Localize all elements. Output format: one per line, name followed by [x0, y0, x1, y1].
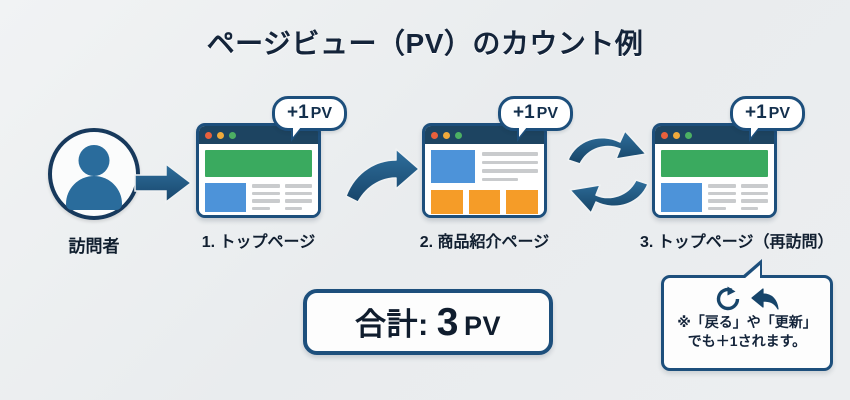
- step-label-3: 3. トップページ（再訪問）: [640, 228, 790, 252]
- note-line-2: でも＋1されます。: [664, 332, 830, 351]
- bubble-tail-inner: [519, 127, 527, 137]
- hero-banner: [661, 150, 768, 177]
- avatar-body: [66, 176, 122, 210]
- pv-bubble-unit: PV: [769, 105, 790, 122]
- note-tail-inner: [744, 265, 760, 279]
- user-avatar-icon: [48, 128, 140, 220]
- product-tile: [431, 190, 463, 214]
- text-line: [285, 199, 313, 203]
- text-column-right: [285, 183, 313, 212]
- window-close-dot-icon: [205, 132, 212, 139]
- browser-viewport: [425, 144, 544, 215]
- text-line: [708, 192, 736, 196]
- content-row: [205, 183, 312, 212]
- browser-viewport: [655, 144, 774, 215]
- browser-window-step-2: [422, 123, 547, 218]
- text-line: [252, 184, 280, 188]
- text-lines-group: [482, 150, 538, 183]
- text-line: [252, 207, 270, 211]
- step-label-2: 2. 商品紹介ページ: [418, 228, 551, 252]
- text-line: [285, 192, 313, 196]
- page-title: ページビュー（PV）のカウント例: [0, 22, 850, 62]
- note-callout-box: ※「戻る」や「更新」 でも＋1されます。: [661, 275, 833, 371]
- pv-bubble-plus: +1: [287, 102, 309, 123]
- total-pv-box: 合計: 3 PV: [303, 289, 553, 355]
- pv-bubble-unit: PV: [311, 105, 332, 122]
- browser-viewport: [199, 144, 318, 215]
- pv-bubble-step-3: +1PV: [730, 96, 805, 131]
- hero-banner: [205, 150, 312, 177]
- thumbnail-block: [661, 183, 702, 212]
- window-close-dot-icon: [431, 132, 438, 139]
- browser-window-step-1: [196, 123, 321, 218]
- text-line: [708, 184, 736, 188]
- text-lines-group: [708, 183, 768, 212]
- text-line: [708, 199, 736, 203]
- window-maximize-dot-icon: [685, 132, 692, 139]
- window-close-dot-icon: [661, 132, 668, 139]
- text-line: [252, 199, 280, 203]
- note-line-1: ※「戻る」や「更新」: [664, 313, 830, 332]
- window-maximize-dot-icon: [455, 132, 462, 139]
- pv-bubble-plus: +1: [513, 102, 535, 123]
- text-line: [482, 169, 538, 173]
- content-row: [661, 183, 768, 212]
- step-label-1: 1. トップページ: [196, 228, 321, 252]
- text-line: [741, 199, 769, 203]
- text-line: [252, 192, 280, 196]
- straight-right-arrow-icon: [133, 160, 195, 206]
- text-line: [285, 184, 313, 188]
- text-line: [741, 192, 769, 196]
- product-image-block: [431, 150, 475, 183]
- total-value: 3: [437, 301, 459, 345]
- pv-bubble-step-1: +1PV: [272, 96, 347, 131]
- product-tile: [506, 190, 538, 214]
- window-maximize-dot-icon: [229, 132, 236, 139]
- diagram-canvas: ページビュー（PV）のカウント例 訪問者: [0, 0, 850, 400]
- note-icon-row: [664, 278, 830, 312]
- window-minimize-dot-icon: [217, 132, 224, 139]
- text-column-left: [708, 183, 736, 212]
- visitor-label: 訪問者: [32, 232, 156, 257]
- bubble-tail-inner: [293, 127, 301, 137]
- avatar-head: [79, 145, 110, 176]
- bubble-tail-inner: [751, 127, 759, 137]
- text-column-left: [252, 183, 280, 212]
- text-line: [708, 207, 726, 211]
- text-line: [482, 161, 538, 165]
- text-line: [482, 178, 518, 182]
- window-minimize-dot-icon: [443, 132, 450, 139]
- note-text-block: ※「戻る」や「更新」 でも＋1されます。: [664, 313, 830, 351]
- pv-bubble-unit: PV: [537, 105, 558, 122]
- total-pv-text: 合計: 3 PV: [355, 299, 501, 345]
- curved-right-arrow-icon: [344, 148, 422, 218]
- total-prefix: 合計:: [355, 299, 429, 344]
- text-line: [285, 207, 303, 211]
- text-line: [741, 207, 759, 211]
- pv-bubble-plus: +1: [745, 102, 767, 123]
- thumbnail-block: [205, 183, 246, 212]
- product-tiles-row: [431, 190, 538, 214]
- product-tile: [469, 190, 501, 214]
- refresh-icon: [714, 285, 742, 313]
- total-unit: PV: [464, 311, 501, 342]
- text-lines-group: [252, 183, 312, 212]
- cycle-refresh-arrows-icon: [562, 126, 654, 218]
- text-line: [482, 152, 538, 156]
- text-line: [741, 184, 769, 188]
- back-arrow-icon: [750, 286, 780, 312]
- text-column-right: [741, 183, 769, 212]
- window-minimize-dot-icon: [673, 132, 680, 139]
- product-header-row: [431, 150, 538, 183]
